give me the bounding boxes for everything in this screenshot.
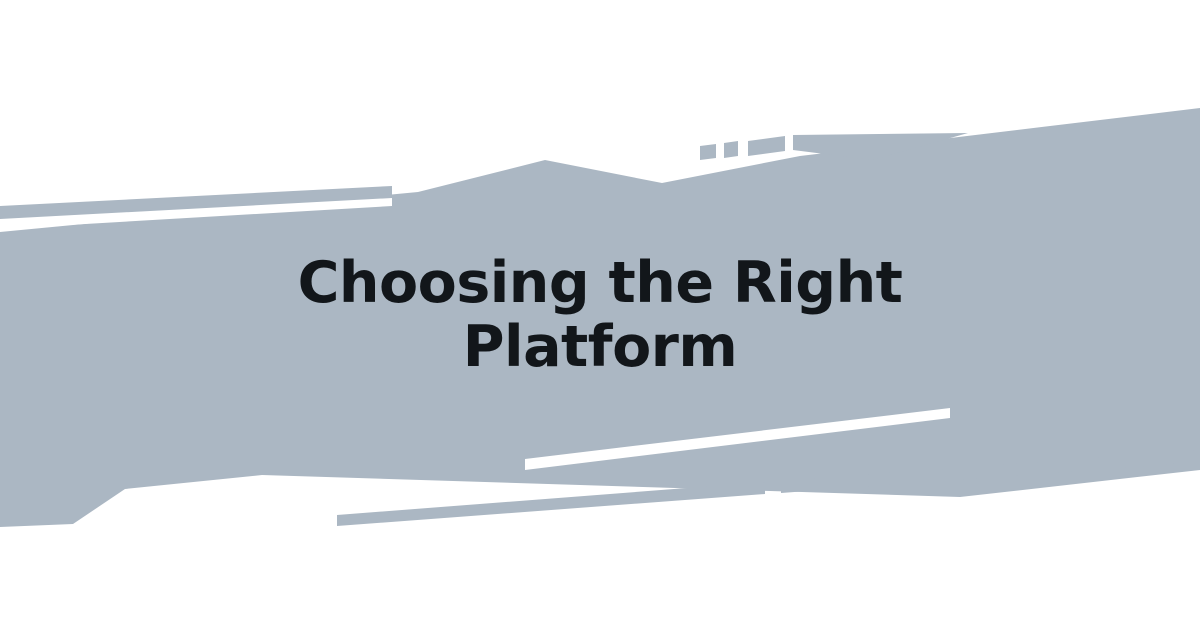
bottom-accent-bar-left (337, 482, 765, 526)
banner-canvas: Choosing the Right Platform (0, 0, 1200, 630)
top-dash-segment-1 (700, 144, 716, 160)
top-dash-segment-3 (748, 136, 785, 156)
background-artwork (0, 0, 1200, 630)
top-dash-segment-2 (724, 141, 738, 158)
